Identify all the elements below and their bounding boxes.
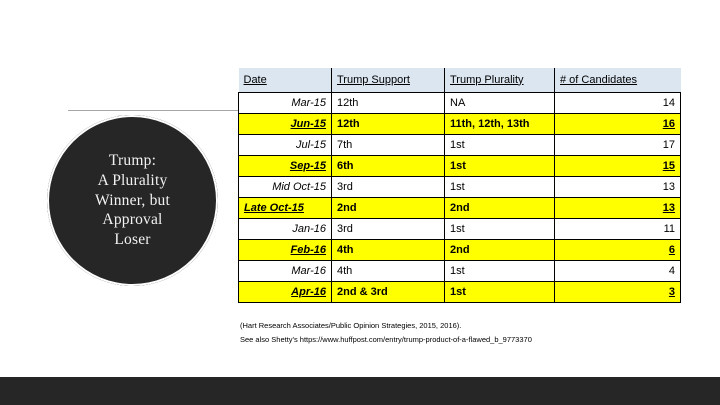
cell-trump-support: 4th — [332, 260, 445, 281]
table-body: Mar-1512thNA14Jun-1512th11th, 12th, 13th… — [239, 92, 681, 302]
cell-date: Mar-16 — [239, 260, 332, 281]
cell-date: Apr-16 — [239, 281, 332, 302]
table-row: Sep-156th1st15 — [239, 155, 681, 176]
cell-trump-plurality: 2nd — [445, 239, 555, 260]
cell-number-of-candidates: 11 — [555, 218, 681, 239]
cell-trump-plurality: 1st — [445, 218, 555, 239]
badge-connector-line — [68, 110, 238, 111]
cell-trump-support: 12th — [332, 113, 445, 134]
cell-date: Mar-15 — [239, 92, 332, 113]
table-row: Mar-164th1st4 — [239, 260, 681, 281]
cell-number-of-candidates: 13 — [555, 176, 681, 197]
cell-trump-plurality: 1st — [445, 260, 555, 281]
column-header-number-of-candidates: # of Candidates — [555, 68, 681, 92]
cell-date: Jul-15 — [239, 134, 332, 155]
column-header-trump-plurality: Trump Plurality — [445, 68, 555, 92]
cell-date: Late Oct-15 — [239, 197, 332, 218]
cell-trump-plurality: 2nd — [445, 197, 555, 218]
cell-trump-plurality: NA — [445, 92, 555, 113]
table-header: Date Trump Support Trump Plurality # of … — [239, 68, 681, 92]
cell-trump-plurality: 1st — [445, 281, 555, 302]
cell-number-of-candidates: 3 — [555, 281, 681, 302]
column-header-trump-support: Trump Support — [332, 68, 445, 92]
cell-date: Feb-16 — [239, 239, 332, 260]
cell-number-of-candidates: 13 — [555, 197, 681, 218]
title-badge: Trump: A Plurality Winner, but Approval … — [47, 115, 218, 286]
column-header-date: Date — [239, 68, 332, 92]
cell-number-of-candidates: 4 — [555, 260, 681, 281]
title-badge-text: Trump: A Plurality Winner, but Approval … — [81, 151, 184, 250]
table-row: Mid Oct-153rd1st13 — [239, 176, 681, 197]
table-row: Jul-157th1st17 — [239, 134, 681, 155]
cell-number-of-candidates: 14 — [555, 92, 681, 113]
cell-trump-support: 4th — [332, 239, 445, 260]
cell-number-of-candidates: 15 — [555, 155, 681, 176]
cell-date: Mid Oct-15 — [239, 176, 332, 197]
cell-number-of-candidates: 17 — [555, 134, 681, 155]
table-row: Jun-1512th11th, 12th, 13th16 — [239, 113, 681, 134]
slide-canvas: Trump: A Plurality Winner, but Approval … — [0, 0, 720, 405]
footnotes: (Hart Research Associates/Public Opinion… — [240, 319, 660, 347]
cell-trump-support: 12th — [332, 92, 445, 113]
cell-trump-support: 6th — [332, 155, 445, 176]
polling-data-table: Date Trump Support Trump Plurality # of … — [238, 68, 681, 303]
cell-number-of-candidates: 6 — [555, 239, 681, 260]
cell-number-of-candidates: 16 — [555, 113, 681, 134]
cell-date: Sep-15 — [239, 155, 332, 176]
table-row: Feb-164th2nd6 — [239, 239, 681, 260]
table-row: Mar-1512thNA14 — [239, 92, 681, 113]
cell-date: Jun-15 — [239, 113, 332, 134]
cell-trump-support: 2nd — [332, 197, 445, 218]
table-row: Apr-162nd & 3rd1st3 — [239, 281, 681, 302]
cell-trump-support: 7th — [332, 134, 445, 155]
cell-trump-support: 3rd — [332, 218, 445, 239]
bottom-bar — [0, 377, 720, 405]
cell-trump-plurality: 1st — [445, 176, 555, 197]
table-header-row: Date Trump Support Trump Plurality # of … — [239, 68, 681, 92]
footnote-reference-link: See also Shetty's https://www.huffpost.c… — [240, 333, 660, 347]
cell-trump-plurality: 1st — [445, 155, 555, 176]
cell-trump-support: 3rd — [332, 176, 445, 197]
cell-date: Jan-16 — [239, 218, 332, 239]
table-row: Late Oct-152nd2nd13 — [239, 197, 681, 218]
cell-trump-support: 2nd & 3rd — [332, 281, 445, 302]
footnote-source: (Hart Research Associates/Public Opinion… — [240, 319, 660, 333]
cell-trump-plurality: 1st — [445, 134, 555, 155]
table-row: Jan-163rd1st11 — [239, 218, 681, 239]
cell-trump-plurality: 11th, 12th, 13th — [445, 113, 555, 134]
